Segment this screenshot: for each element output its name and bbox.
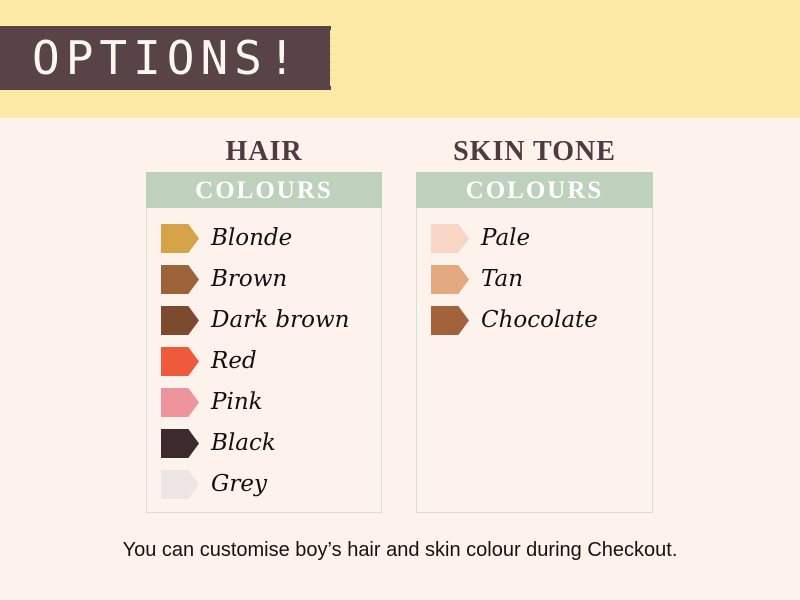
column-title-hair: HAIR <box>146 118 382 172</box>
swatch-label: Pale <box>481 227 530 250</box>
list-item[interactable]: Red <box>147 341 381 382</box>
color-swatch-icon <box>431 306 469 335</box>
swatch-label: Dark brown <box>211 309 349 332</box>
column-hair: HAIR COLOURS Blonde Brown Dark brown <box>146 118 382 513</box>
list-item[interactable]: Blonde <box>147 218 381 259</box>
color-swatch-icon <box>161 429 199 458</box>
swatch-label: Black <box>211 432 276 455</box>
options-ribbon: OPTIONS! <box>0 26 330 90</box>
color-swatch-icon <box>161 470 199 499</box>
swatch-label: Brown <box>211 268 287 291</box>
panel-head-hair: COLOURS <box>146 172 382 208</box>
list-item[interactable]: Pale <box>417 218 652 259</box>
swatch-label: Chocolate <box>481 309 598 332</box>
color-swatch-icon <box>431 265 469 294</box>
options-columns: HAIR COLOURS Blonde Brown Dark brown <box>0 118 800 600</box>
panel-head-label-hair: COLOURS <box>195 178 333 203</box>
color-swatch-icon <box>161 265 199 294</box>
panel-hair: COLOURS Blonde Brown Dark brown Red <box>146 172 382 513</box>
swatch-label: Blonde <box>211 227 292 250</box>
list-item[interactable]: Brown <box>147 259 381 300</box>
list-item[interactable]: Black <box>147 423 381 464</box>
swatch-label: Pink <box>211 391 263 414</box>
footer-caption: You can customise boy’s hair and skin co… <box>0 538 800 562</box>
color-swatch-icon <box>431 224 469 253</box>
color-swatch-icon <box>161 388 199 417</box>
swatch-label: Grey <box>211 473 267 496</box>
list-item[interactable]: Pink <box>147 382 381 423</box>
swatch-label: Tan <box>481 268 523 291</box>
header-band: OPTIONS! <box>0 0 800 118</box>
list-item[interactable]: Tan <box>417 259 652 300</box>
column-title-skin-tone: SKIN TONE <box>416 118 653 172</box>
color-swatch-icon <box>161 347 199 376</box>
list-item[interactable]: Dark brown <box>147 300 381 341</box>
swatch-label: Red <box>211 350 257 373</box>
color-swatch-icon <box>161 306 199 335</box>
swatch-list-skin-tone: Pale Tan Chocolate <box>417 208 652 341</box>
ribbon-zigzag-edge-icon <box>307 26 331 90</box>
panel-head-skin-tone: COLOURS <box>416 172 653 208</box>
column-skin-tone: SKIN TONE COLOURS Pale Tan Chocolate <box>416 118 653 513</box>
ribbon-title: OPTIONS! <box>32 35 302 81</box>
list-item[interactable]: Chocolate <box>417 300 652 341</box>
list-item[interactable]: Grey <box>147 464 381 505</box>
panel-head-label-skin-tone: COLOURS <box>466 178 604 203</box>
swatch-list-hair: Blonde Brown Dark brown Red Pink <box>147 208 381 505</box>
panel-skin-tone: COLOURS Pale Tan Chocolate <box>416 172 653 513</box>
color-swatch-icon <box>161 224 199 253</box>
